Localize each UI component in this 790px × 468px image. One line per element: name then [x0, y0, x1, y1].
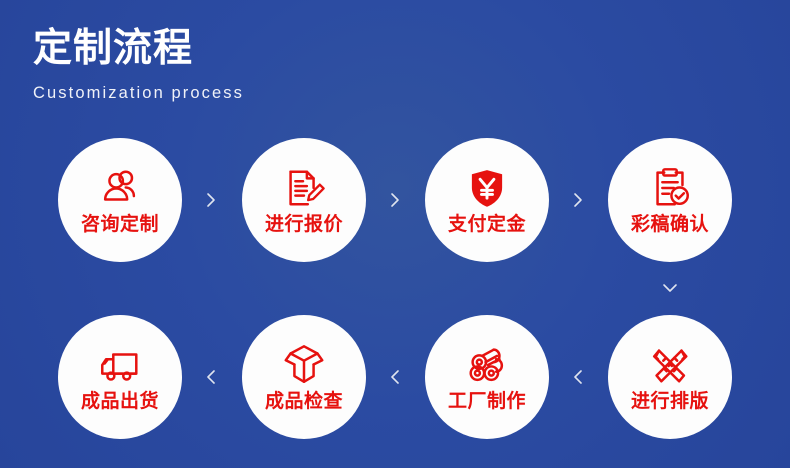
step-shipment[interactable]: 成品出货	[58, 315, 182, 439]
chevron-left-icon	[568, 367, 588, 387]
chevron-right-icon	[201, 190, 221, 210]
chevron-down-icon	[660, 278, 680, 298]
pencil-ruler-icon	[647, 342, 693, 388]
document-pen-icon	[281, 165, 327, 211]
clipboard-check-icon	[647, 165, 693, 211]
step-typesetting[interactable]: 进行排版	[608, 315, 732, 439]
customization-process-banner: 定制流程 Customization process 咨询定制	[0, 0, 790, 468]
shield-yen-icon	[464, 165, 510, 211]
page-subtitle: Customization process	[33, 84, 244, 103]
users-icon	[97, 165, 143, 211]
step-factory-production[interactable]: 工厂制作	[425, 315, 549, 439]
step-label: 支付定金	[448, 213, 526, 235]
page-title: 定制流程	[33, 26, 244, 72]
step-label: 彩稿确认	[631, 213, 709, 235]
step-quotation[interactable]: 进行报价	[242, 138, 366, 262]
step-inspection[interactable]: 成品检查	[242, 315, 366, 439]
chevron-right-icon	[385, 190, 405, 210]
step-label: 工厂制作	[448, 390, 526, 412]
step-label: 咨询定制	[81, 213, 159, 235]
chevron-left-icon	[385, 367, 405, 387]
truck-icon	[97, 342, 143, 388]
banner-header: 定制流程 Customization process	[33, 26, 244, 103]
open-box-icon	[281, 342, 327, 388]
step-label: 成品检查	[265, 390, 343, 412]
step-pay-deposit[interactable]: 支付定金	[425, 138, 549, 262]
step-label: 成品出货	[81, 390, 159, 412]
step-consult-customization[interactable]: 咨询定制	[58, 138, 182, 262]
chevron-left-icon	[201, 367, 221, 387]
fabric-rolls-icon	[464, 342, 510, 388]
step-label: 进行排版	[631, 390, 709, 412]
step-proof-confirmation[interactable]: 彩稿确认	[608, 138, 732, 262]
step-label: 进行报价	[265, 213, 343, 235]
chevron-right-icon	[568, 190, 588, 210]
